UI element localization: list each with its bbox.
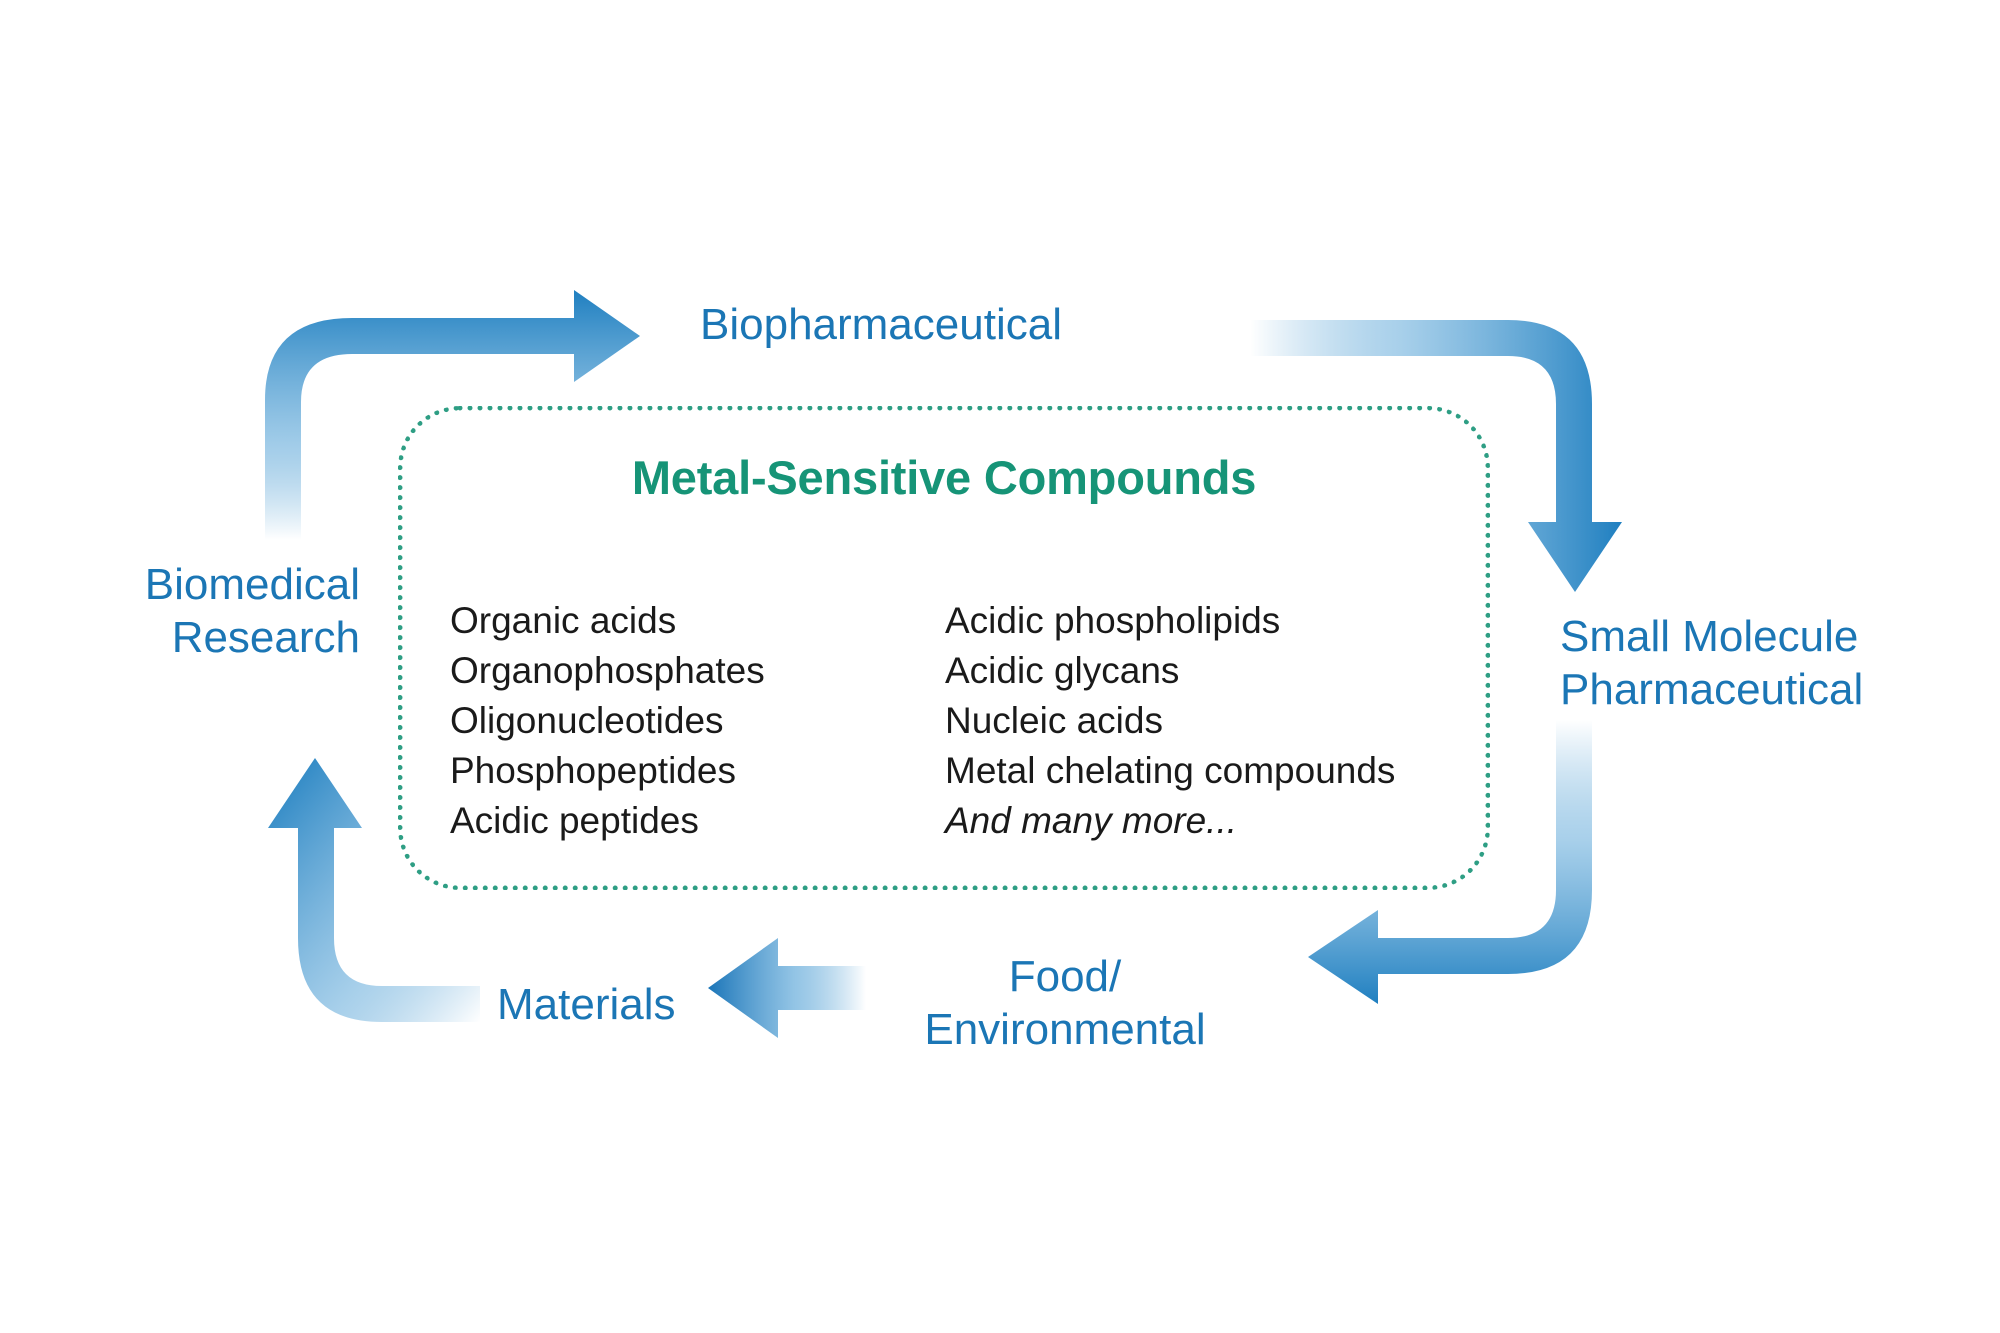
list-item: Acidic peptides xyxy=(450,796,765,846)
cycle-node-label-line1: Small Molecule xyxy=(1560,610,1863,663)
box-title: Metal-Sensitive Compounds xyxy=(398,450,1490,505)
arrow-food-environmental-to-materials xyxy=(708,938,866,1038)
cycle-node-biopharmaceutical: Biopharmaceutical xyxy=(700,298,1062,351)
diagram-canvas: Metal-Sensitive Compounds Organic acids … xyxy=(0,0,2000,1333)
cycle-node-label-line2: Pharmaceutical xyxy=(1560,663,1863,716)
cycle-node-food-environmental: Food/ Environmental xyxy=(880,950,1250,1056)
cycle-node-biomedical-research: Biomedical Research xyxy=(40,558,360,664)
cycle-node-materials: Materials xyxy=(497,978,676,1031)
cycle-node-label-line1: Biomedical xyxy=(40,558,360,611)
list-item: Nucleic acids xyxy=(945,696,1395,746)
compound-column-left: Organic acids Organophosphates Oligonucl… xyxy=(450,596,765,846)
list-item: Phosphopeptides xyxy=(450,746,765,796)
compound-column-right: Acidic phospholipids Acidic glycans Nucl… xyxy=(945,596,1395,846)
list-item-and-many-more: And many more... xyxy=(945,796,1395,846)
list-item: Acidic glycans xyxy=(945,646,1395,696)
cycle-node-small-molecule-pharmaceutical: Small Molecule Pharmaceutical xyxy=(1560,610,1863,716)
cycle-node-label-line2: Environmental xyxy=(880,1003,1250,1056)
list-item: Organic acids xyxy=(450,596,765,646)
cycle-node-label-line2: Research xyxy=(40,611,360,664)
list-item: Metal chelating compounds xyxy=(945,746,1395,796)
list-item: Oligonucleotides xyxy=(450,696,765,746)
list-item: Organophosphates xyxy=(450,646,765,696)
list-item: Acidic phospholipids xyxy=(945,596,1395,646)
cycle-node-label-line1: Food/ xyxy=(880,950,1250,1003)
